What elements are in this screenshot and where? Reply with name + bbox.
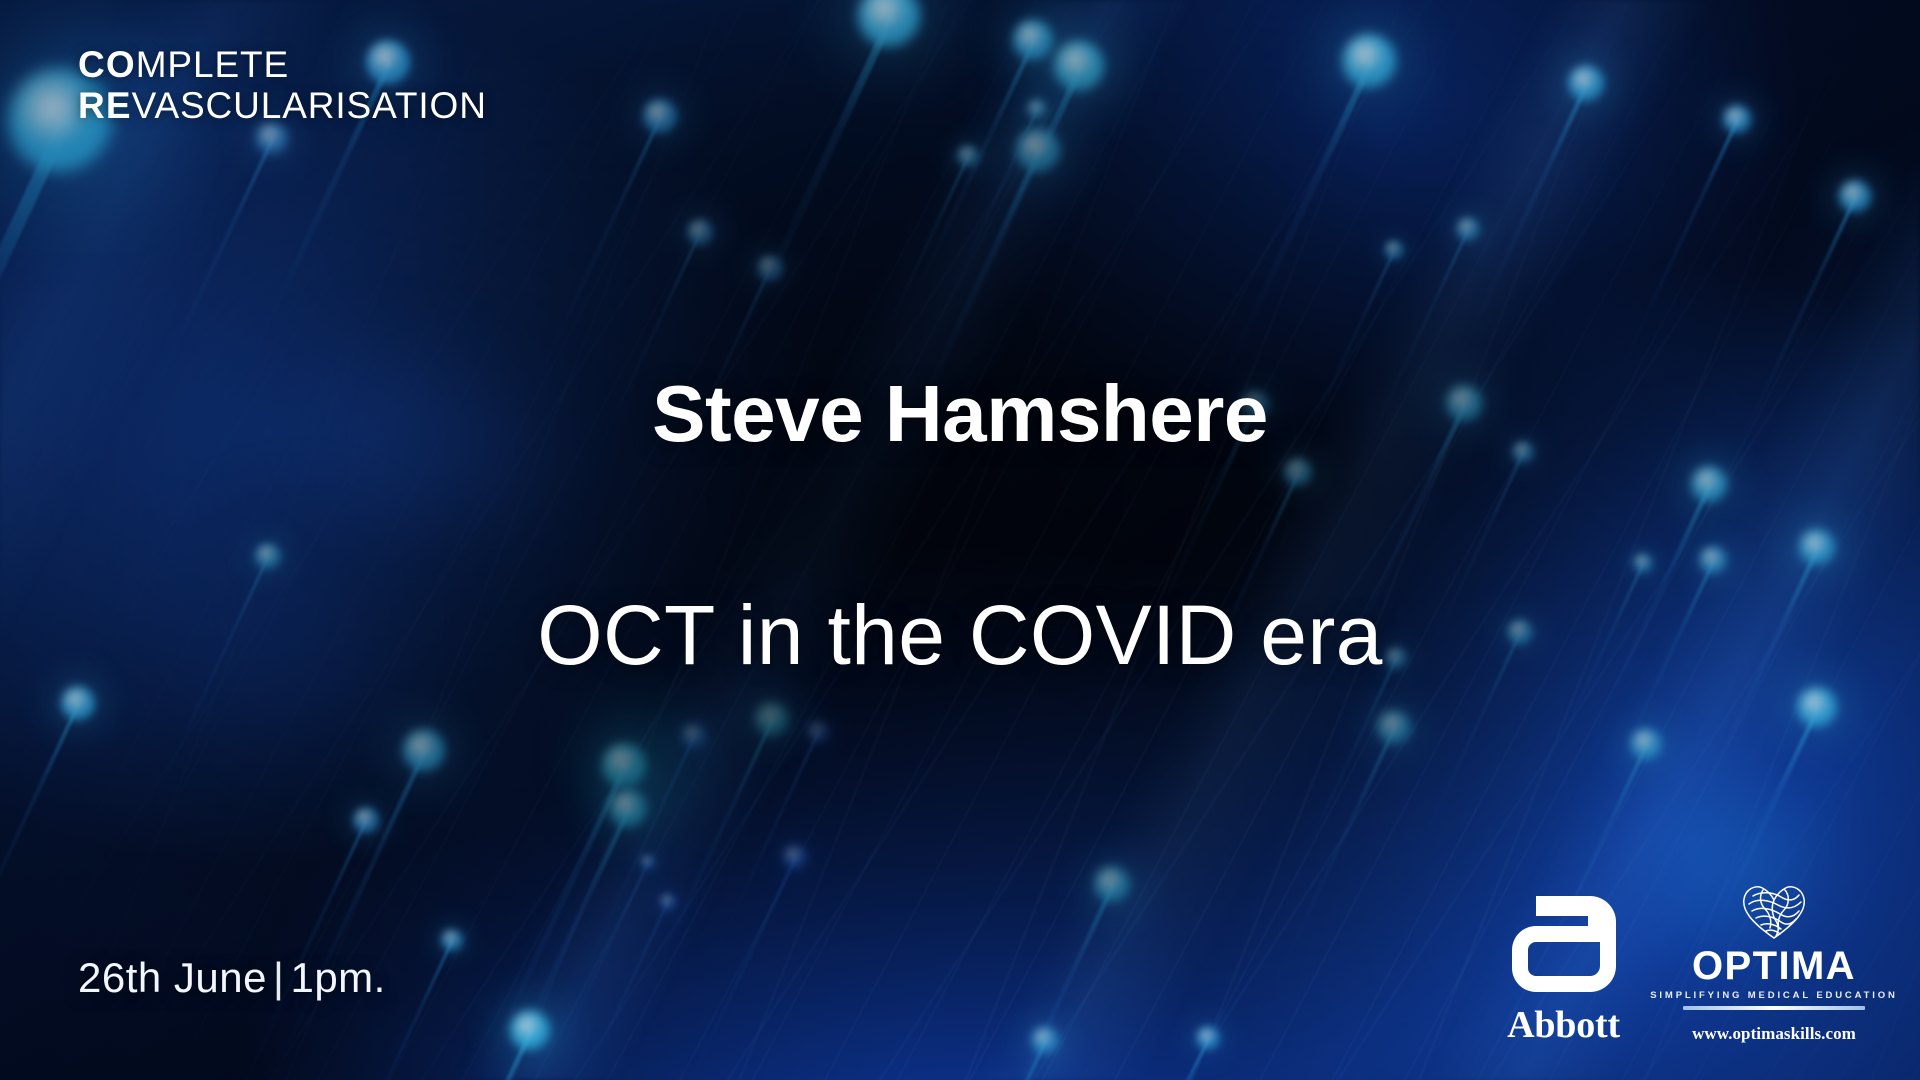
brand-line-complete-rest: MPLETE (136, 44, 289, 85)
sponsor-logos: Abbott OPTIMA SIMPLIFYING MEDICAL E (1507, 880, 1872, 1045)
optima-url: www.optimaskills.com (1692, 1024, 1856, 1044)
title-card-slide: COMPLETE REVASCULARISATION Steve Hamsher… (0, 0, 1920, 1080)
optima-wordmark: OPTIMA (1692, 946, 1856, 986)
talk-title: OCT in the COVID era (0, 587, 1920, 684)
schedule-divider: | (267, 954, 290, 1001)
abbott-wordmark: Abbott (1507, 1006, 1620, 1044)
schedule-text: 26th June|1pm. (78, 954, 386, 1002)
schedule-time: 1pm. (290, 954, 385, 1001)
abbott-a-symbol-icon (1510, 894, 1618, 994)
brand-line-revascularisation: REVASCULARISATION (78, 85, 487, 126)
brand-line-revascularisation-rest: VASCULARISATION (132, 85, 487, 126)
brand-line-complete-bold: CO (78, 44, 136, 85)
optima-divider-rule (1683, 1006, 1865, 1010)
brand-lockup: COMPLETE REVASCULARISATION (78, 44, 487, 127)
scribble-heart-icon (1739, 880, 1809, 942)
schedule-date: 26th June (78, 954, 267, 1001)
brand-line-complete: COMPLETE (78, 44, 487, 85)
optima-tagline: SIMPLIFYING MEDICAL EDUCATION (1650, 991, 1898, 1001)
speaker-name: Steve Hamshere (0, 368, 1920, 460)
brand-line-revascularisation-bold: RE (78, 85, 132, 126)
abbott-logo: Abbott (1507, 894, 1620, 1044)
optima-logo: OPTIMA SIMPLIFYING MEDICAL EDUCATION www… (1676, 880, 1872, 1045)
